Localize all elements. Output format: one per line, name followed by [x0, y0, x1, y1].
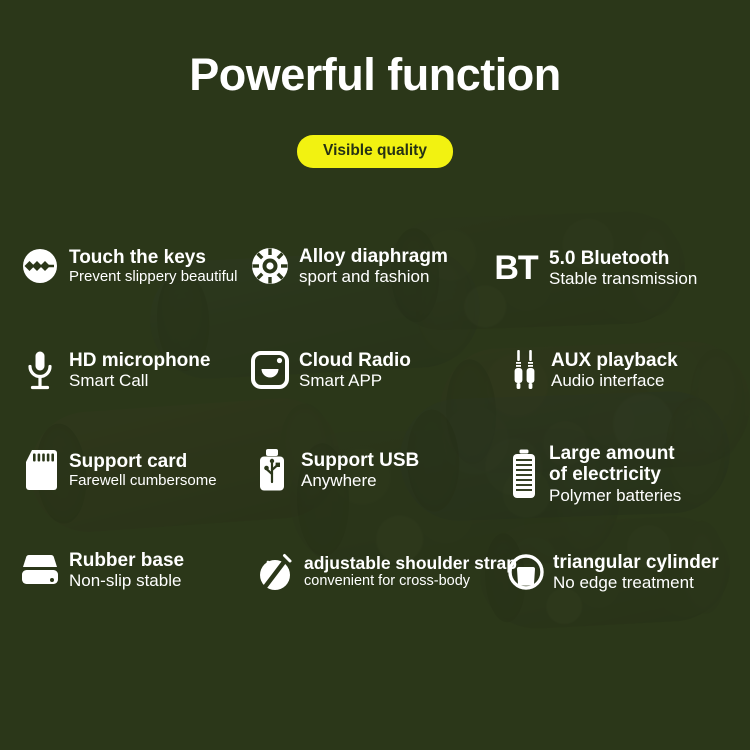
feature-subtitle: Smart APP: [299, 371, 411, 391]
feature-title-line2: of electricity: [549, 464, 681, 485]
triangular-cylinder-icon: [508, 550, 544, 594]
feature-subtitle: Non-slip stable: [69, 571, 184, 591]
feature-title: Cloud Radio: [299, 350, 411, 371]
feature-subtitle: No edge treatment: [553, 573, 719, 593]
bt-text-icon: BT: [492, 246, 540, 290]
feature-title: Support card: [69, 451, 217, 472]
cloud-radio-icon: [250, 348, 290, 392]
feature-title: HD microphone: [69, 350, 210, 371]
feature-subtitle: Polymer batteries: [549, 486, 681, 506]
feature-subtitle: Farewell cumbersome: [69, 472, 217, 489]
page-title: Powerful function: [0, 52, 750, 97]
aux-jack-icon: [508, 348, 542, 392]
feature-support-usb: Support USB Anywhere: [252, 448, 419, 492]
battery-icon: [508, 446, 540, 502]
product-feature-poster: Powerful function Visible quality Touch …: [0, 0, 750, 750]
feature-subtitle: convenient for cross-body: [304, 573, 517, 590]
feature-subtitle: Audio interface: [551, 371, 678, 391]
visible-quality-badge: Visible quality: [297, 135, 453, 168]
feature-title: Touch the keys: [69, 247, 237, 268]
feature-triangular-cylinder: triangular cylinder No edge treatment: [508, 550, 719, 594]
feature-title: Rubber base: [69, 550, 184, 571]
usb-drive-icon: [252, 448, 292, 492]
feature-aux-playback: AUX playback Audio interface: [508, 348, 678, 392]
feature-bluetooth: BT 5.0 Bluetooth Stable transmission: [492, 246, 697, 290]
feature-title: Large amount: [549, 443, 681, 464]
feature-large-battery: Large amount of electricity Polymer batt…: [508, 443, 681, 505]
feature-subtitle: sport and fashion: [299, 267, 448, 287]
feature-subtitle: Anywhere: [301, 471, 419, 491]
feature-title: Alloy diaphragm: [299, 246, 448, 267]
feature-title: adjustable shoulder strap: [304, 554, 517, 574]
feature-subtitle: Stable transmission: [549, 269, 697, 289]
feature-alloy-diaphragm: Alloy diaphragm sport and fashion: [250, 244, 448, 288]
feature-shoulder-strap: adjustable shoulder strap convenient for…: [255, 550, 517, 594]
feature-title: Support USB: [301, 450, 419, 471]
feature-rubber-base: Rubber base Non-slip stable: [20, 548, 184, 592]
feature-support-card: Support card Farewell cumbersome: [20, 448, 217, 492]
feature-subtitle: Smart Call: [69, 371, 210, 391]
feature-hd-microphone: HD microphone Smart Call: [20, 348, 210, 392]
feature-title: 5.0 Bluetooth: [549, 248, 697, 269]
feature-title: AUX playback: [551, 350, 678, 371]
feature-touch-the-keys: Touch the keys Prevent slippery beautifu…: [20, 244, 237, 288]
sd-card-icon: [20, 448, 60, 492]
rubber-base-icon: [20, 548, 60, 592]
shoulder-strap-icon: [255, 550, 295, 594]
alloy-diaphragm-icon: [250, 244, 290, 288]
touch-keys-icon: [20, 244, 60, 288]
microphone-icon: [20, 348, 60, 392]
feature-cloud-radio: Cloud Radio Smart APP: [250, 348, 411, 392]
feature-title: triangular cylinder: [553, 552, 719, 573]
feature-subtitle: Prevent slippery beautiful: [69, 268, 237, 285]
